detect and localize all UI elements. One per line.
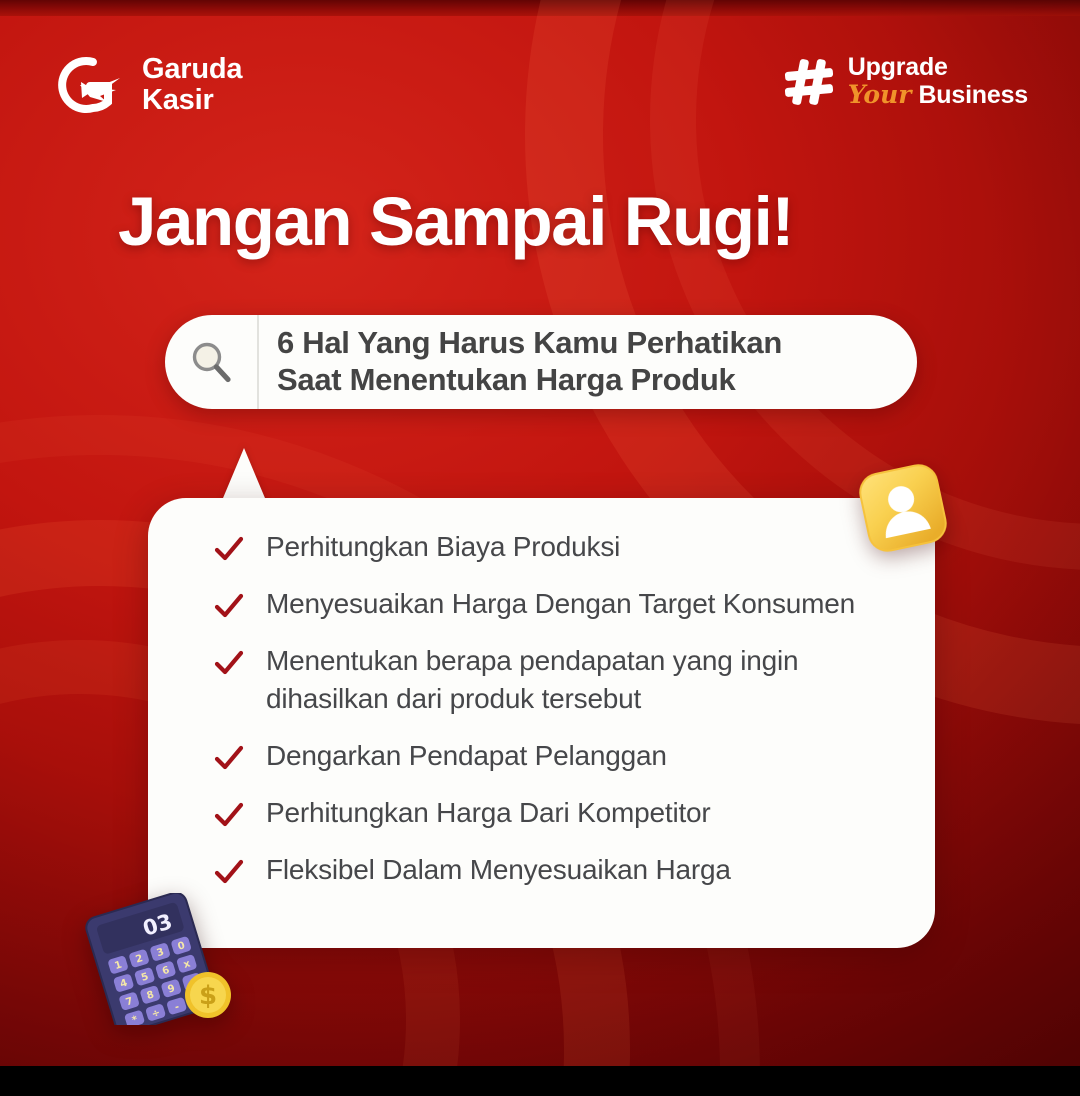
search-icon bbox=[188, 339, 234, 385]
campaign-business: Business bbox=[918, 82, 1028, 109]
brand-name: Garuda Kasir bbox=[142, 54, 242, 117]
list-item: Fleksibel Dalam Menyesuaikan Harga bbox=[214, 851, 901, 888]
brand-lockup: Garuda Kasir bbox=[50, 52, 242, 118]
list-item-label: Fleksibel Dalam Menyesuaikan Harga bbox=[266, 851, 731, 888]
checklist-card: Perhitungkan Biaya Produksi Menyesuaikan… bbox=[148, 498, 935, 948]
brand-name-line1: Garuda bbox=[142, 54, 242, 85]
search-line1: 6 Hal Yang Harus Kamu Perhatikan bbox=[277, 325, 901, 362]
search-bar[interactable]: 6 Hal Yang Harus Kamu Perhatikan Saat Me… bbox=[165, 315, 917, 409]
poster-canvas: Garuda Kasir Upgrade Your Business Jan bbox=[0, 0, 1080, 1096]
search-icon-container bbox=[165, 315, 259, 409]
check-icon bbox=[214, 737, 244, 774]
list-item-label: Perhitungkan Biaya Produksi bbox=[266, 528, 620, 565]
garuda-bird-icon bbox=[50, 52, 128, 118]
checklist: Perhitungkan Biaya Produksi Menyesuaikan… bbox=[214, 528, 901, 889]
campaign-line2: Your Business bbox=[848, 81, 1028, 109]
list-item: Menyesuaikan Harga Dengan Target Konsume… bbox=[214, 585, 901, 622]
brand-name-line2: Kasir bbox=[142, 85, 242, 116]
check-icon bbox=[214, 794, 244, 831]
list-item: Perhitungkan Harga Dari Kompetitor bbox=[214, 794, 901, 831]
list-item: Dengarkan Pendapat Pelanggan bbox=[214, 737, 901, 774]
check-icon bbox=[214, 642, 244, 679]
page-title: Jangan Sampai Rugi! bbox=[118, 182, 998, 261]
check-icon bbox=[214, 851, 244, 888]
campaign-text: Upgrade Your Business bbox=[848, 54, 1028, 109]
calculator-icon: 03 bbox=[72, 893, 240, 1025]
hashtag-icon bbox=[783, 56, 835, 108]
list-item: Perhitungkan Biaya Produksi bbox=[214, 528, 901, 565]
campaign-your: Your bbox=[848, 81, 912, 108]
svg-text:$: $ bbox=[199, 981, 217, 1011]
list-item-label: Dengarkan Pendapat Pelanggan bbox=[266, 737, 667, 774]
check-icon bbox=[214, 528, 244, 565]
search-query-text: 6 Hal Yang Harus Kamu Perhatikan Saat Me… bbox=[259, 315, 917, 409]
user-badge-icon bbox=[848, 453, 957, 562]
dollar-coin-icon: $ bbox=[185, 972, 231, 1018]
list-item-label: Perhitungkan Harga Dari Kompetitor bbox=[266, 794, 711, 831]
check-icon bbox=[214, 585, 244, 622]
list-item-label: Menyesuaikan Harga Dengan Target Konsume… bbox=[266, 585, 855, 622]
bottom-black-bar bbox=[0, 1066, 1080, 1096]
campaign-line1: Upgrade bbox=[848, 54, 1028, 81]
list-item: Menentukan berapa pendapatan yang ingin … bbox=[214, 642, 901, 716]
list-item-label: Menentukan berapa pendapatan yang ingin … bbox=[266, 642, 886, 716]
campaign-lockup: Upgrade Your Business bbox=[783, 54, 1028, 109]
search-line2: Saat Menentukan Harga Produk bbox=[277, 362, 901, 399]
background-top-strip bbox=[0, 0, 1080, 16]
